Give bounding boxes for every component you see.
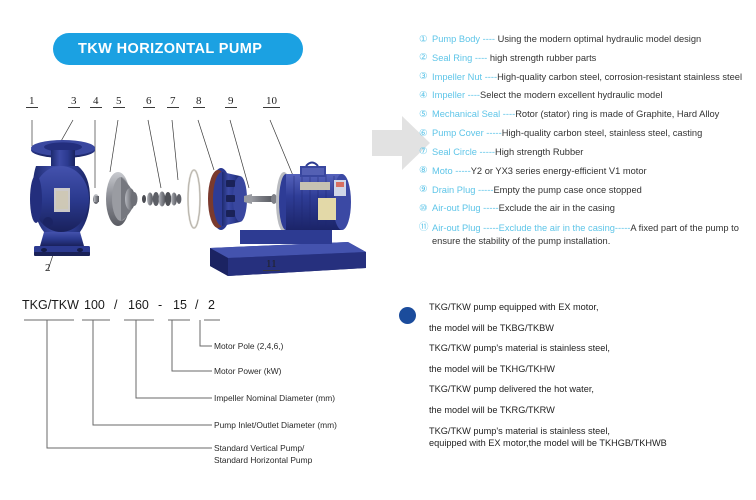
legend-number: ⑦ [419,147,432,158]
legend-text: Impeller Nut ----High-quality carbon ste… [432,72,742,83]
legend-item: ⑨ Drain Plug -----Empty the pump case on… [419,185,755,196]
legend-number: ② [419,53,432,64]
legend-part-name: Impeller Nut ---- [432,72,497,82]
legend-text: Pump Cover -----High-quality carbon stee… [432,128,702,139]
pump-spec-sheet: TKW HORIZONTAL PUMP [0,0,756,500]
legend-desc: Select the modern excellent hydraulic mo… [480,90,662,100]
legend-desc: High strength Rubber [495,147,583,157]
variant-line: TKG/TKW pump's material is stainless ste… [429,344,749,353]
legend-text: Drain Plug -----Empty the pump case once… [432,185,642,196]
legend-number: ④ [419,90,432,101]
callout-3: 3 [68,95,80,108]
legend-item: ⑦ Seal Circle -----High strength Rubber [419,147,755,158]
legend-part-name: Seal Ring ---- [432,53,490,63]
model-label-inlet-outlet: Pump Inlet/Outlet Diameter (mm) [214,419,337,431]
page-title: TKW HORIZONTAL PUMP [78,41,262,57]
legend-desc: High-quality carbon steel, corrosion-res… [497,72,742,82]
legend-item: ⑩ Air-out Plug -----Exclude the air in t… [419,203,755,214]
model-label-impeller-diameter: Impeller Nominal Diameter (mm) [214,392,335,404]
legend-part-name: Impeller ---- [432,90,480,100]
legend-item: ⑪ Air-out Plug -----Exclude the air in t… [419,222,755,247]
legend-text: Seal Circle -----High strength Rubber [432,147,583,158]
legend-item: ② Seal Ring ---- high strength rubber pa… [419,53,755,64]
exploded-pump-diagram: 1 3 4 5 6 7 8 9 10 2 11 [18,100,378,285]
model-code-breakdown: TKG/TKW 100 / 160 - 15 / 2 [22,298,392,493]
variant-line: equipped with EX motor,the model will be… [429,439,749,448]
legend-number: ⑧ [419,166,432,177]
legend-item: ③ Impeller Nut ----High-quality carbon s… [419,72,755,83]
legend-number: ③ [419,72,432,83]
legend-desc: Using the modern optimal hydraulic model… [498,34,702,44]
callout-2: 2 [45,262,51,274]
variant-line: the model will be TKHG/TKHW [429,365,749,374]
legend-item: ① Pump Body ---- Using the modern optima… [419,34,755,45]
legend-part-name: Moto ----- [432,166,471,176]
legend-item: ④ Impeller ----Select the modern excelle… [419,90,755,101]
callout-10: 10 [263,95,280,108]
legend-part-name: Air-out Plug -----Exclude the air in the… [432,223,630,233]
variant-line: TKG/TKW pump delivered the hot water, [429,385,749,394]
legend-text: Mechanical Seal ----Rotor (stator) ring … [432,109,719,120]
callout-1: 1 [26,95,38,108]
legend-number: ⑨ [419,185,432,196]
legend-text: Air-out Plug -----Exclude the air in the… [432,203,615,214]
legend-desc: Empty the pump case once stopped [493,185,641,195]
callout-6: 6 [143,95,155,108]
variant-line: TKG/TKW pump's material is stainless ste… [429,427,749,436]
legend-desc: Y2 or YX3 series energy-efficient V1 mot… [471,166,647,176]
callout-4: 4 [90,95,102,108]
legend-number: ⑥ [419,128,432,139]
bullet-point-icon [399,307,416,324]
legend-part-name: Seal Circle ----- [432,147,495,157]
legend-desc: Exclude the air in the casing [499,203,615,213]
legend-item: ⑥ Pump Cover -----High-quality carbon st… [419,128,755,139]
callout-11: 11 [263,258,280,271]
model-label-motor-pole: Motor Pole (2,4,6,) [214,340,283,352]
legend-number: ⑩ [419,203,432,214]
model-variants-block: TKG/TKW pump equipped with EX motor, the… [399,303,749,459]
callout-9: 9 [225,95,237,108]
legend-part-name: Mechanical Seal ---- [432,109,515,119]
variant-line: the model will be TKBG/TKBW [429,324,749,333]
variant-line: the model will be TKRG/TKRW [429,406,749,415]
callout-8: 8 [193,95,205,108]
legend-text: Impeller ----Select the modern excellent… [432,90,662,101]
legend-text: Seal Ring ---- high strength rubber part… [432,53,596,64]
legend-part-name: Drain Plug ----- [432,185,493,195]
legend-item: ⑧ Moto -----Y2 or YX3 series energy-effi… [419,166,755,177]
callout-7: 7 [167,95,179,108]
model-label-motor-power: Motor Power (kW) [214,365,281,377]
legend-text: Moto -----Y2 or YX3 series energy-effici… [432,166,647,177]
legend-text: Pump Body ---- Using the modern optimal … [432,34,701,45]
model-label-standard-pump-2: Standard Horizontal Pump [214,454,312,466]
model-label-standard-pump-1: Standard Vertical Pump/ [214,442,304,454]
legend-desc: Rotor (stator) ring is made of Graphite,… [515,109,719,119]
variant-line: TKG/TKW pump equipped with EX motor, [429,303,749,312]
legend-number: ① [419,34,432,45]
legend-part-name: Air-out Plug ----- [432,203,499,213]
callout-5: 5 [113,95,125,108]
page-title-banner: TKW HORIZONTAL PUMP [53,33,303,65]
parts-legend-list: ① Pump Body ---- Using the modern optima… [419,34,755,255]
legend-text: Air-out Plug -----Exclude the air in the… [432,222,755,247]
legend-number: ⑤ [419,109,432,120]
legend-item: ⑤ Mechanical Seal ----Rotor (stator) rin… [419,109,755,120]
legend-number: ⑪ [419,222,432,233]
legend-desc: High-quality carbon steel, stainless ste… [502,128,703,138]
legend-desc: high strength rubber parts [490,53,596,63]
legend-part-name: Pump Cover ----- [432,128,502,138]
legend-part-name: Pump Body ---- [432,34,498,44]
